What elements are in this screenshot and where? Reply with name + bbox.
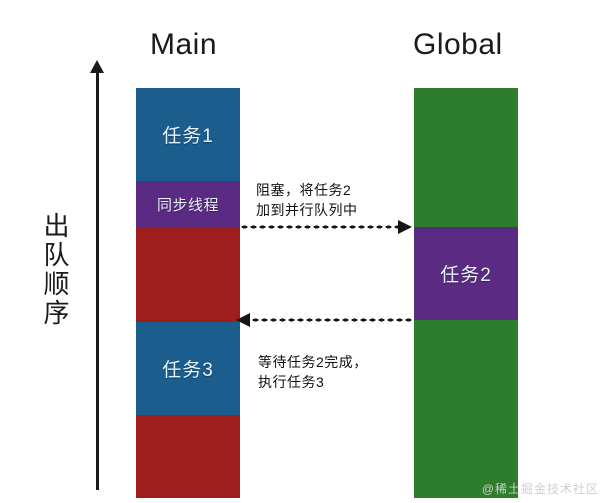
global-queue-spacer-2 [414,320,518,498]
flow-arrow-caption-wait-task2: 等待任务2完成， 执行任务3 [258,352,368,393]
global-queue-spacer-0 [414,88,518,227]
flow-arrow-wait-task2 [236,313,414,327]
arrow-left-icon [236,313,250,327]
flow-arrow-caption-block-task2: 阻塞，将任务2 加到并行队列中 [256,180,358,221]
watermark: @稀土掘金技术社区 [482,480,599,497]
dotted-line [240,225,398,229]
main-queue-spacer-4 [136,415,240,498]
global-queue-column: 任务2 [414,88,518,498]
flow-arrow-block-task2 [240,220,416,234]
main-queue-block-1: 同步线程 [136,181,240,227]
arrow-right-icon [398,220,412,234]
main-queue-block-3: 任务3 [136,322,240,415]
main-queue-block-0: 任务1 [136,88,240,181]
dotted-line [251,318,414,322]
dequeue-order-label: 出 队 顺 序 [40,212,74,328]
main-queue-spacer-2 [136,227,240,322]
column-title-main: Main [150,30,217,60]
global-queue-block-1: 任务2 [414,227,518,320]
dequeue-order-axis-line [96,70,99,490]
main-queue-column: 任务1同步线程任务3 [136,88,240,498]
diagram-canvas: Main Global 出 队 顺 序 任务1同步线程任务3 任务2 阻塞，将任… [0,0,609,503]
column-title-global: Global [413,30,503,60]
